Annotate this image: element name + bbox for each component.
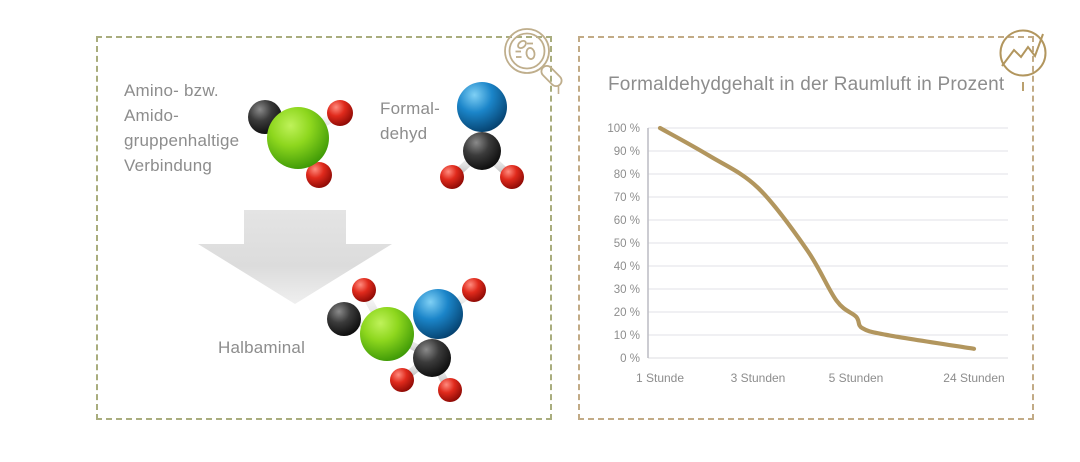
x-axis-tick-label: 1 Stunde [636, 371, 684, 385]
y-axis-tick-label: 10 % [614, 330, 640, 342]
x-axis-tick-label: 5 Stunden [829, 371, 884, 385]
y-axis-tick-label: 90 % [614, 146, 640, 158]
y-axis-tick-label: 80 % [614, 169, 640, 181]
amino-compound-molecule [236, 86, 364, 194]
hydrogen-atom [500, 165, 524, 189]
carbon-atom [327, 302, 361, 336]
y-axis-tick-label: 30 % [614, 284, 640, 296]
carbon-atom [413, 339, 451, 377]
line-chart-circle-icon [988, 22, 1062, 96]
carbon-atom [463, 132, 501, 170]
chart-panel: Formaldehydgehalt in der Raumluft in Pro… [578, 36, 1034, 420]
chart-title: Formaldehydgehalt in der Raumluft in Pro… [608, 74, 1004, 96]
x-axis-tick-labels: 1 Stunde3 Stunden5 Stunden24 Stunden [636, 371, 1005, 385]
oxygen-atom [413, 289, 463, 339]
halbaminal-molecule [324, 270, 494, 402]
y-axis-tick-labels: 0 %10 %20 %30 %40 %50 %60 %70 %80 %90 %1… [607, 123, 640, 365]
reaction-panel: Amino- bzw. Amido- gruppenhaltige Verbin… [96, 36, 552, 420]
x-axis-tick-label: 3 Stunden [731, 371, 786, 385]
nitrogen-atom [267, 107, 329, 169]
nitrogen-atom [360, 307, 414, 361]
oxygen-atom [390, 368, 414, 392]
oxygen-atom [462, 278, 486, 302]
oxygen-atom [438, 378, 462, 402]
grid-lines [648, 128, 1008, 358]
y-axis-tick-label: 0 % [620, 353, 640, 365]
oxygen-atom [352, 278, 376, 302]
y-axis-tick-label: 40 % [614, 261, 640, 273]
hydrogen-atom [440, 165, 464, 189]
x-axis-tick-label: 24 Stunden [943, 371, 1004, 385]
y-axis-tick-label: 50 % [614, 238, 640, 250]
magnifier-molecules-icon [497, 22, 571, 96]
data-series-line [660, 128, 974, 349]
y-axis-tick-label: 60 % [614, 215, 640, 227]
y-axis-tick-label: 20 % [614, 307, 640, 319]
screenshot-root: Amino- bzw. Amido- gruppenhaltige Verbin… [0, 0, 1080, 462]
y-axis-tick-label: 100 % [607, 123, 640, 135]
formaldehyde-decay-line-chart: 0 %10 %20 %30 %40 %50 %60 %70 %80 %90 %1… [588, 110, 1024, 406]
halbaminal-label: Halbaminal [218, 338, 305, 358]
oxygen-atom [327, 100, 353, 126]
y-axis-tick-label: 70 % [614, 192, 640, 204]
